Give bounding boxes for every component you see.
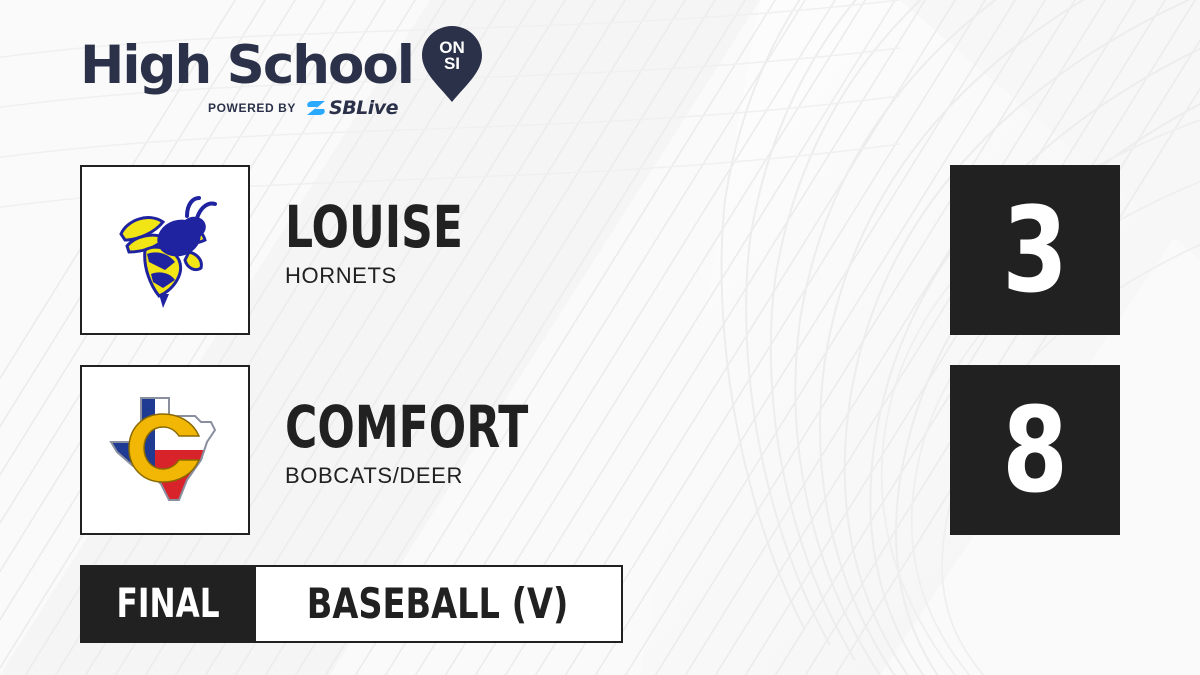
team-name: LOUISE: [285, 197, 680, 257]
sport-label-box: BASEBALL (V): [256, 565, 623, 643]
score-box: 8: [950, 365, 1120, 535]
score-box: 3: [950, 165, 1120, 335]
game-status-bar: FINAL BASEBALL (V): [80, 565, 623, 643]
brand-logo-lockup: High School ON SI POWERED BY SBLive: [80, 34, 510, 134]
score-value: 8: [1002, 391, 1068, 509]
sblive-bolt-icon: [305, 98, 327, 118]
team-mascot: BOBCATS/DEER: [285, 463, 805, 489]
team-logo-box: [80, 165, 250, 335]
sblive-logo: SBLive: [305, 98, 398, 118]
team-mascot: HORNETS: [285, 263, 805, 289]
brand-wordmark-row: High School ON SI: [80, 34, 510, 96]
team-name: COMFORT: [285, 397, 680, 457]
scoreboard-graphic: High School ON SI POWERED BY SBLive: [0, 0, 1200, 675]
page-title: High School: [80, 39, 413, 92]
team-logo-box: [80, 365, 250, 535]
hornet-logo-icon: [105, 190, 225, 310]
status-state-label: FINAL: [117, 583, 220, 625]
on-si-pin-badge: ON SI: [421, 26, 483, 102]
on-si-pin-text: ON SI: [421, 40, 483, 72]
score-value: 3: [1002, 191, 1068, 309]
team-text-block: LOUISE HORNETS: [285, 197, 805, 289]
powered-by-label: POWERED BY: [208, 101, 296, 115]
texas-c-logo-icon: [103, 388, 227, 512]
pin-line-si: SI: [421, 56, 483, 72]
sport-label: BASEBALL (V): [307, 582, 569, 626]
sblive-wordmark: SBLive: [329, 99, 398, 118]
team-text-block: COMFORT BOBCATS/DEER: [285, 397, 805, 489]
status-badge: FINAL: [80, 565, 256, 643]
